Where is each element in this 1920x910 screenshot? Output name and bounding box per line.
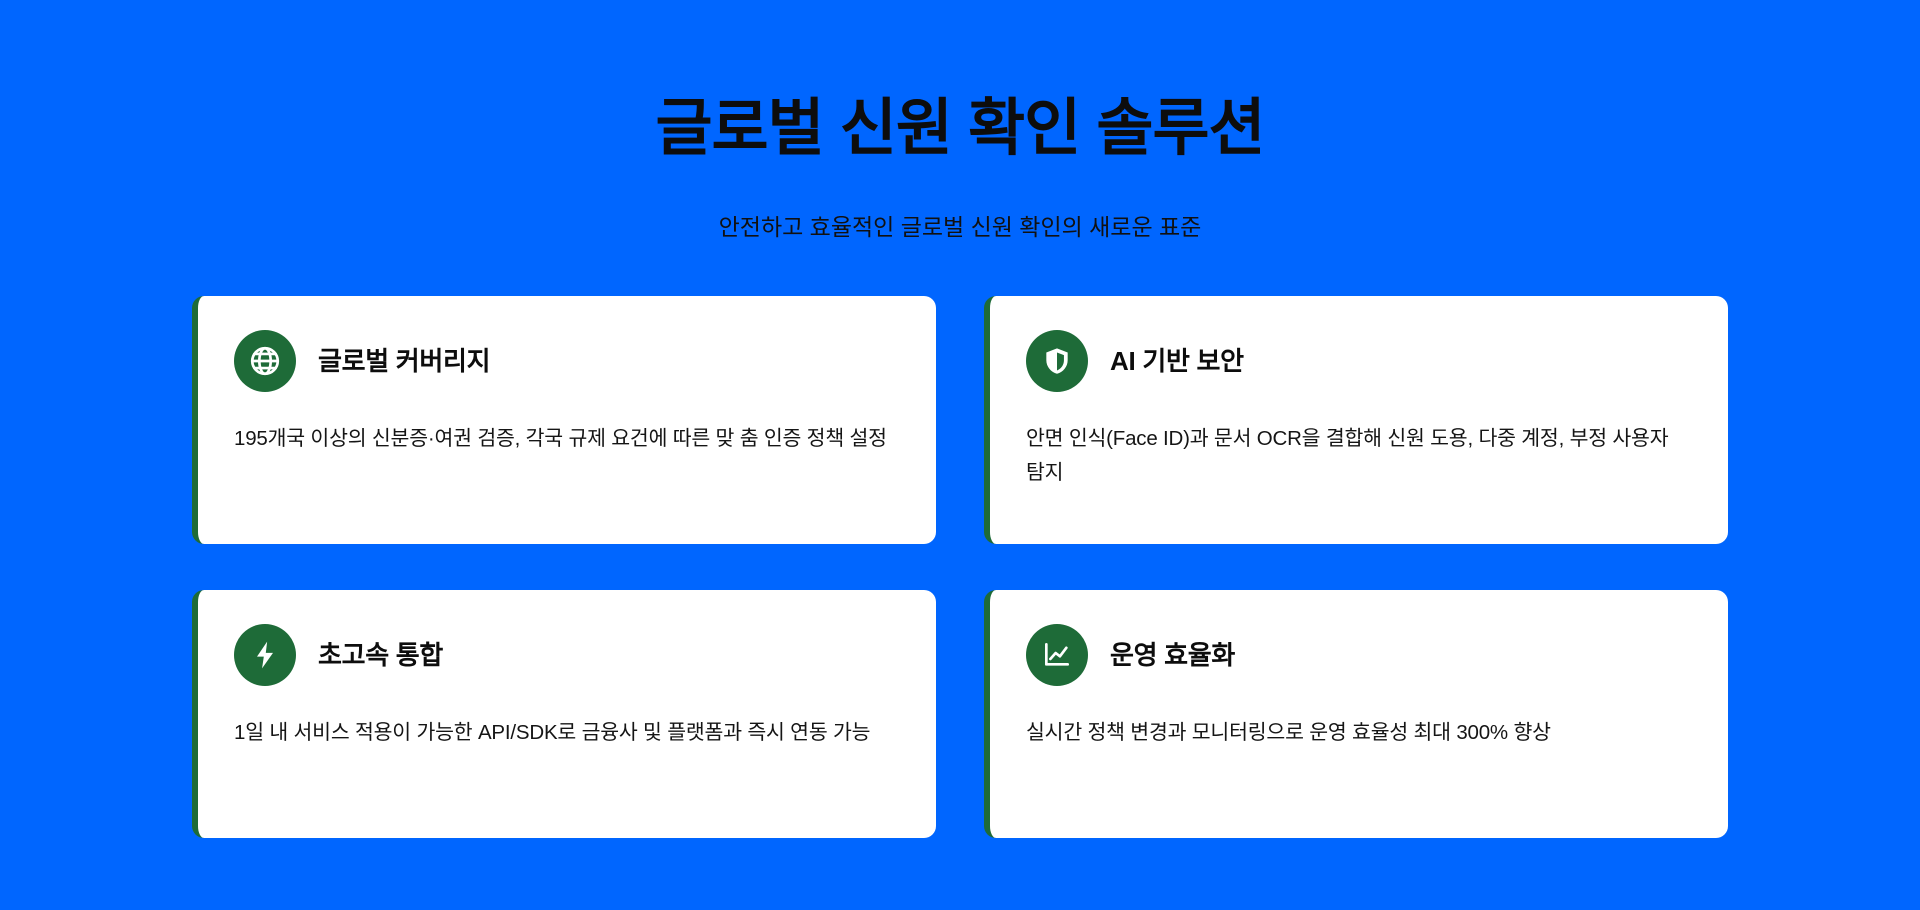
- card-title: AI 기반 보안: [1110, 345, 1244, 378]
- card-description: 1일 내 서비스 적용이 가능한 API/SDK로 금융사 및 플랫폼과 즉시 …: [234, 716, 874, 749]
- lightning-bolt-icon: [234, 624, 296, 686]
- card-header: 글로벌 커버리지: [234, 330, 900, 392]
- feature-card-global-coverage[interactable]: 글로벌 커버리지 195개국 이상의 신분증·여권 검증, 각국 규제 요건에 …: [192, 296, 936, 544]
- feature-card-operational-efficiency[interactable]: 운영 효율화 실시간 정책 변경과 모니터링으로 운영 효율성 최대 300% …: [984, 590, 1728, 838]
- card-description: 안면 인식(Face ID)과 문서 OCR을 결합해 신원 도용, 다중 계정…: [1026, 422, 1686, 488]
- line-chart-icon: [1026, 624, 1088, 686]
- feature-card-fast-integration[interactable]: 초고속 통합 1일 내 서비스 적용이 가능한 API/SDK로 금융사 및 플…: [192, 590, 936, 838]
- card-title: 초고속 통합: [318, 639, 443, 672]
- card-header: 운영 효율화: [1026, 624, 1692, 686]
- card-title-rest: 기반 보안: [1135, 346, 1243, 376]
- globe-icon: [234, 330, 296, 392]
- card-description: 실시간 정책 변경과 모니터링으로 운영 효율성 최대 300% 향상: [1026, 716, 1666, 749]
- card-header: AI 기반 보안: [1026, 330, 1692, 392]
- feature-card-ai-security[interactable]: AI 기반 보안 안면 인식(Face ID)과 문서 OCR을 결합해 신원 …: [984, 296, 1728, 544]
- page-subtitle: 안전하고 효율적인 글로벌 신원 확인의 새로운 표준: [719, 211, 1202, 243]
- card-title-emphasis: AI: [1110, 346, 1135, 376]
- card-header: 초고속 통합: [234, 624, 900, 686]
- page-title: 글로벌 신원 확인 솔루션: [655, 92, 1264, 165]
- hero-section: 글로벌 신원 확인 솔루션 안전하고 효율적인 글로벌 신원 확인의 새로운 표…: [0, 0, 1920, 910]
- card-description: 195개국 이상의 신분증·여권 검증, 각국 규제 요건에 따른 맞 춤 인증…: [234, 422, 894, 455]
- shield-icon: [1026, 330, 1088, 392]
- feature-cards-grid: 글로벌 커버리지 195개국 이상의 신분증·여권 검증, 각국 규제 요건에 …: [192, 296, 1728, 838]
- card-title: 운영 효율화: [1110, 639, 1235, 672]
- card-title: 글로벌 커버리지: [318, 345, 490, 378]
